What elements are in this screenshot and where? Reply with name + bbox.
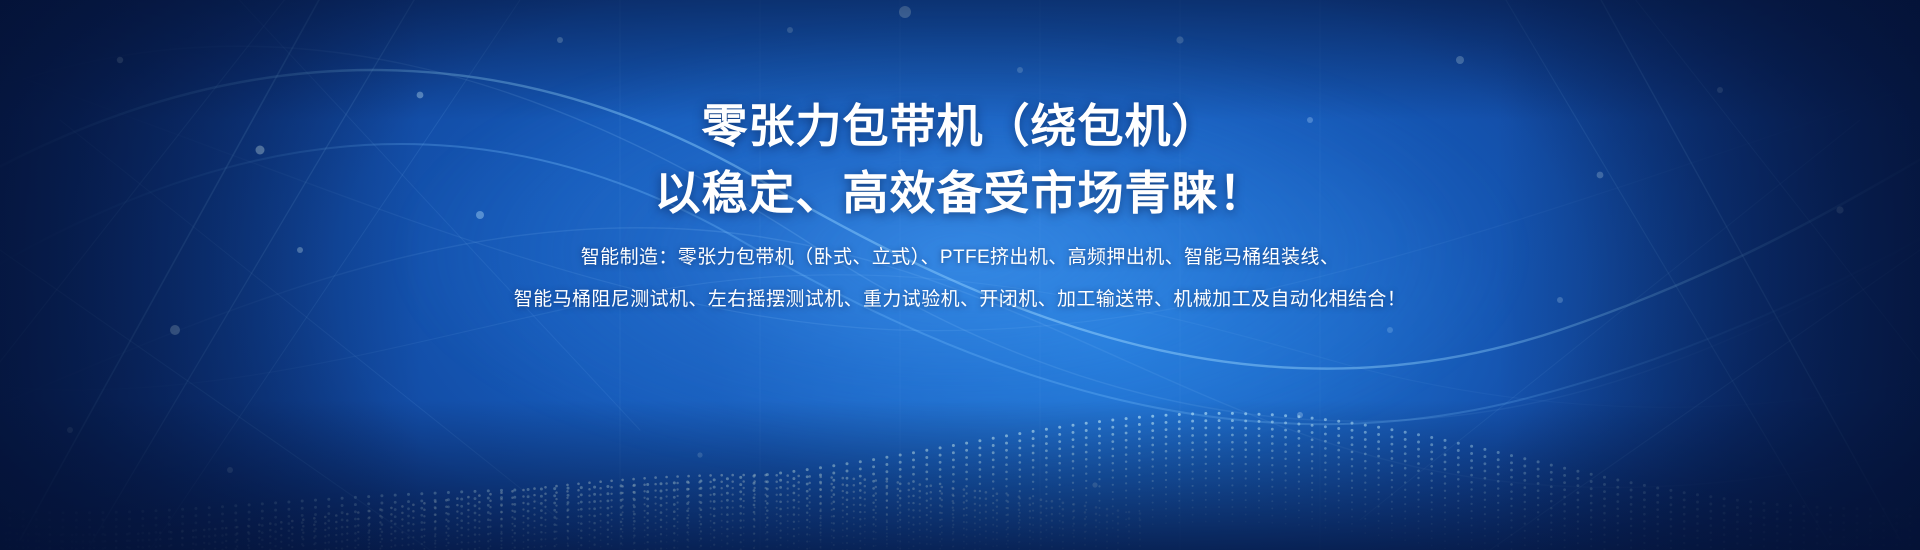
banner-title-line-1: 零张力包带机（绕包机）	[0, 98, 1920, 154]
banner-subtitle-line-1: 智能制造：零张力包带机（卧式、立式）、PTFE挤出机、高频押出机、智能马桶组装线…	[0, 245, 1920, 271]
promo-banner: 零张力包带机（绕包机） 以稳定、高效备受市场青睐！ 智能制造：零张力包带机（卧式…	[0, 0, 1920, 550]
banner-title-line-2: 以稳定、高效备受市场青睐！	[0, 165, 1920, 221]
banner-subtitle-line-2: 智能马桶阻尼测试机、左右摇摆测试机、重力试验机、开闭机、加工输送带、机械加工及自…	[0, 287, 1920, 313]
dot-matrix-wave-decoration	[0, 0, 1920, 550]
